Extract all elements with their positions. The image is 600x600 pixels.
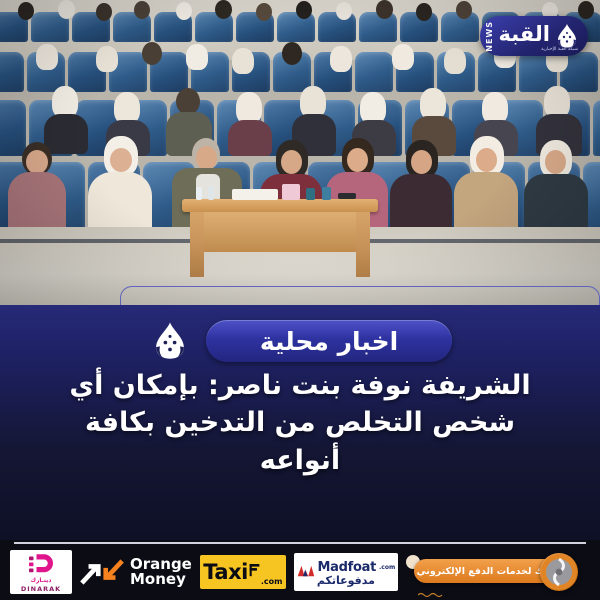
- madfoat-mark-icon: [297, 562, 315, 574]
- sponsor-logo-taxi[interactable]: Taxi .com: [200, 555, 286, 589]
- sponsor-divider: [14, 542, 586, 544]
- banner-squiggle-decoration: [418, 583, 446, 589]
- dome-icon: [554, 23, 580, 49]
- category-row: اخبار محلية: [0, 319, 600, 363]
- headline-text: الشريفة نوفة بنت ناصر: بإمكان أي شخص الت…: [16, 367, 584, 479]
- category-badge[interactable]: اخبار محلية: [206, 320, 452, 362]
- sponsor-logo-orange-money[interactable]: Orange Money: [80, 557, 192, 586]
- orange-money-line-2: Money: [130, 570, 186, 588]
- headline-panel: اخبار محلية الشريفة نوفة بنت ناصر: بإمكا…: [0, 305, 600, 540]
- sponsor-logo-dinarak[interactable]: دينـارك DINARAK: [10, 550, 72, 594]
- logo-arabic-wordmark: القبة: [498, 24, 550, 48]
- dinarak-arabic-name: دينـارك: [30, 577, 51, 584]
- madfoat-arabic-name: مدفوعاتكم: [317, 575, 375, 586]
- sponsor-bar: دينـارك DINARAK Orange Money Taxi: [0, 540, 600, 600]
- taxi-flag-icon: [248, 563, 261, 582]
- taxi-wordmark: Taxi: [203, 560, 248, 584]
- epayment-orb-icon: [540, 553, 578, 591]
- headline-line-3: أنواعه: [16, 442, 584, 479]
- logo-subtitle: شبكة القبة الإخبارية: [541, 47, 578, 52]
- sponsor-epayment-banner[interactable]: راحتك لخدمات الدفع الإلكتروني: [406, 555, 578, 589]
- dinarak-english-name: DINARAK: [21, 585, 61, 593]
- logo-news-label: NEWS: [485, 21, 494, 52]
- dome-icon: [148, 321, 192, 361]
- dinarak-mark-icon: [26, 552, 56, 576]
- taxi-domain-suffix: .com: [261, 577, 283, 589]
- decorative-frame-line: [120, 286, 600, 305]
- sponsor-logo-madfoat[interactable]: Madfoat .com مدفوعاتكم: [294, 553, 398, 591]
- madfoat-wordmark: Madfoat: [318, 560, 377, 575]
- news-card: NEWS القبة شبكة القبة الإخبارية اخبار مح…: [0, 0, 600, 600]
- headline-line-2: شخص التخلص من التدخين بكافة: [16, 404, 584, 441]
- orange-money-wordmark: Orange Money: [130, 557, 192, 586]
- headline-line-1: الشريفة نوفة بنت ناصر: بإمكان أي: [16, 367, 584, 404]
- orange-money-arrows-icon: [80, 559, 124, 585]
- madfoat-domain-suffix: .com: [379, 564, 395, 571]
- channel-logo[interactable]: NEWS القبة شبكة القبة الإخبارية: [480, 16, 588, 56]
